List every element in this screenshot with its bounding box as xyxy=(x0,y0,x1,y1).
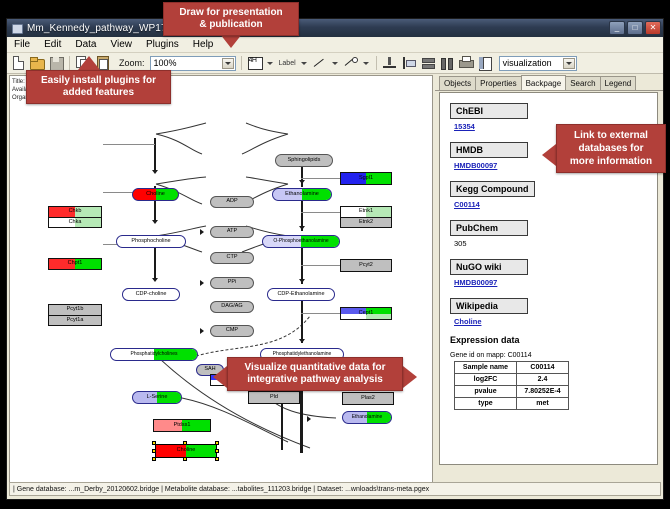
node-chpt1[interactable]: Chpt1 xyxy=(48,258,102,270)
align-left-icon[interactable] xyxy=(401,55,417,71)
arrowhead-ptdcholine xyxy=(152,278,158,282)
tab-objects[interactable]: Objects xyxy=(439,76,476,90)
node-label: CDP-choline xyxy=(136,292,167,298)
expr-val-sample-name: C00114 xyxy=(517,362,569,374)
menu-view[interactable]: View xyxy=(108,39,134,50)
columns-icon[interactable] xyxy=(439,55,455,71)
node-cdp-ethanolamine[interactable]: CDP-Ethanolamine xyxy=(267,288,335,301)
callout-link-line3: more information xyxy=(563,155,659,168)
node-plas2[interactable]: Plas2 xyxy=(342,392,394,405)
node-label: Etnk2 xyxy=(359,220,373,226)
db-header-hmdb: HMDB xyxy=(450,142,528,158)
edge-chk-to-backbone xyxy=(103,144,155,145)
title-bar: Mm_Kennedy_pathway_WP1771_45176.gpml _ □… xyxy=(7,19,663,37)
gene-id-on-mapp: Gene id on mapp: C00114 xyxy=(450,352,657,359)
edge-pld-vertical xyxy=(300,391,302,453)
node-label: Ptdss1 xyxy=(174,423,191,429)
node-label: Choline xyxy=(177,448,196,454)
node-phosphocholine[interactable]: Phosphocholine xyxy=(116,235,186,248)
status-bar-text: | Gene database: ...m_Derby_20120602.bri… xyxy=(13,486,429,493)
expression-data-title: Expression data xyxy=(450,335,657,345)
node-pcyt1a[interactable]: Pcyt1a xyxy=(48,315,102,326)
app-icon xyxy=(11,22,23,34)
callout-draw-line1: Draw for presentation xyxy=(170,7,292,19)
callout-plugins-arrow xyxy=(78,56,100,70)
zoom-value: 100% xyxy=(154,58,177,68)
expr-key-pvalue: pvalue xyxy=(455,386,517,398)
node-pcyt2[interactable]: Pcyt2 xyxy=(340,259,392,272)
node-ppi[interactable]: PPi xyxy=(210,277,254,289)
callout-visualize-arrow-right xyxy=(403,366,417,388)
node-label: DAG/AG xyxy=(221,304,242,310)
node-pld[interactable]: Pld xyxy=(248,391,300,404)
node-phosphatidylcholines[interactable]: Phosphatidylcholines xyxy=(110,348,198,361)
label-dropdown-icon[interactable] xyxy=(300,55,309,71)
stack-icon[interactable] xyxy=(420,55,436,71)
minimize-button[interactable]: _ xyxy=(609,21,625,35)
status-bar: | Gene database: ...m_Derby_20120602.bri… xyxy=(9,482,661,496)
db-header-wikipedia: Wikipedia xyxy=(450,298,528,314)
node-label: Pld xyxy=(270,395,278,401)
node-label: Ethanolamine xyxy=(285,192,319,198)
callout-visualize-arrow-left xyxy=(213,366,227,388)
menu-edit[interactable]: Edit xyxy=(42,39,63,50)
edge-cdpetn-to-ptdetn xyxy=(301,301,303,343)
node-ethanolamine-top[interactable]: Ethanolamine xyxy=(272,188,332,201)
arrowhead-ethanolamine xyxy=(299,180,305,184)
node-label: Phosphocholine xyxy=(131,239,170,245)
node-ptdss1[interactable]: Ptdss1 xyxy=(153,419,211,432)
maximize-button[interactable]: □ xyxy=(627,21,643,35)
menu-help[interactable]: Help xyxy=(191,39,216,50)
toolbar-separator xyxy=(69,56,70,70)
node-chkb[interactable]: Chkb xyxy=(48,206,102,217)
node-label: ADP xyxy=(226,199,237,205)
callout-plugins-line1: Easily install plugins for xyxy=(33,75,164,87)
selection-handle-w[interactable] xyxy=(152,449,156,453)
menu-data[interactable]: Data xyxy=(73,39,98,50)
node-sphingolipids[interactable]: Sphingolipids xyxy=(275,154,333,167)
node-adp[interactable]: ADP xyxy=(210,196,254,208)
node-pcyt1b[interactable]: Pcyt1b xyxy=(48,304,102,315)
db-link-nugo[interactable]: HMDB00097 xyxy=(454,278,657,287)
callout-link-line2: databases for xyxy=(563,142,659,155)
zoom-label: Zoom: xyxy=(119,58,145,68)
selection-handle-n[interactable] xyxy=(183,441,187,445)
db-link-kegg[interactable]: C00114 xyxy=(454,200,657,209)
selection-handle-sw[interactable] xyxy=(152,457,156,461)
db-value-pubchem: 305 xyxy=(454,239,657,248)
node-label: O-Phosphoethanolamine xyxy=(273,239,328,244)
table-row: type met xyxy=(455,398,569,410)
arrowhead-cmp xyxy=(200,328,204,334)
align-bottom-icon[interactable] xyxy=(382,55,398,71)
node-label: CDP-Ethanolamine xyxy=(277,292,324,298)
node-label: Phosphatidylcholines xyxy=(131,352,178,357)
tab-backpage[interactable]: Backpage xyxy=(521,75,567,90)
line-icon[interactable] xyxy=(312,55,328,71)
receptor-dropdown-icon[interactable] xyxy=(362,55,371,71)
node-label: Ethanolamine xyxy=(352,415,383,420)
node-label: Etnk1 xyxy=(359,209,373,215)
expression-table: Sample name C00114 log2FC 2.4 pvalue 7.8… xyxy=(454,361,569,410)
node-atp[interactable]: ATP xyxy=(210,226,254,238)
callout-link-line1: Link to external xyxy=(563,129,659,142)
save-icon[interactable] xyxy=(48,55,64,71)
db-link-wikipedia[interactable]: Choline xyxy=(454,317,657,326)
table-row: Sample name C00114 xyxy=(455,362,569,374)
selection-handle-se[interactable] xyxy=(215,457,219,461)
edge-sphingolipids-to-ethanolamine xyxy=(301,167,303,187)
toolbar-separator-3 xyxy=(376,56,377,70)
label-icon[interactable]: Label xyxy=(278,55,297,71)
callout-visualize-line2: integrative pathway analysis xyxy=(234,374,396,386)
edge-sgpl1 xyxy=(301,178,341,179)
node-dag-ag[interactable]: DAG/AG xyxy=(210,301,254,313)
expr-val-pvalue: 7.80252E-4 xyxy=(517,386,569,398)
callout-draw-line2: & publication xyxy=(170,19,292,31)
toolbar-separator-2 xyxy=(241,56,242,70)
callout-plugins: Easily install plugins for added feature… xyxy=(26,70,171,104)
new-file-icon[interactable] xyxy=(10,55,26,71)
tab-search[interactable]: Search xyxy=(565,76,600,90)
open-folder-icon[interactable] xyxy=(29,55,45,71)
expr-val-type: met xyxy=(517,398,569,410)
chevron-down-icon[interactable] xyxy=(222,58,234,69)
arrowhead-cdpcholine xyxy=(152,220,158,224)
print-icon[interactable] xyxy=(458,55,474,71)
node-label: Pcyt1a xyxy=(67,318,84,324)
selection-handle-nw[interactable] xyxy=(152,441,156,445)
callout-draw: Draw for presentation & publication xyxy=(163,2,299,36)
node-label: Pcyt1b xyxy=(67,307,84,313)
callout-visualize-line1: Visualize quantitative data for xyxy=(234,362,396,374)
edge-etnk xyxy=(301,212,341,213)
node-label: Plas2 xyxy=(361,396,375,402)
callout-link: Link to external databases for more info… xyxy=(556,124,666,173)
node-label: L-Serine xyxy=(147,395,168,401)
node-label: ATP xyxy=(227,229,237,235)
db-header-kegg: Kegg Compound xyxy=(450,181,535,197)
table-row: pvalue 7.80252E-4 xyxy=(455,386,569,398)
visualization-value: visualization xyxy=(503,58,552,68)
screenshot-root: Mm_Kennedy_pathway_WP1771_45176.gpml _ □… xyxy=(0,0,670,509)
callout-draw-arrow xyxy=(220,34,242,48)
node-label: CTP xyxy=(227,255,238,261)
edge-cept1 xyxy=(301,313,341,314)
node-chka[interactable]: Chka xyxy=(48,217,102,228)
expr-val-log2fc: 2.4 xyxy=(517,374,569,386)
node-label: Chpt1 xyxy=(68,261,83,267)
menu-file[interactable]: File xyxy=(12,39,32,50)
callout-visualize: Visualize quantitative data for integrat… xyxy=(227,357,403,391)
arrowhead-ophospho xyxy=(299,226,305,230)
node-ethanolamine-bottom[interactable]: Ethanolamine xyxy=(342,411,392,424)
selection-handle-e[interactable] xyxy=(215,449,219,453)
window-controls: _ □ ✕ xyxy=(609,21,661,35)
node-choline-selected[interactable]: Choline xyxy=(155,444,217,458)
arrowhead-phosphocholine xyxy=(152,170,158,174)
selection-handle-s[interactable] xyxy=(183,457,187,461)
node-cdp-choline[interactable]: CDP-choline xyxy=(122,288,180,301)
menu-plugins[interactable]: Plugins xyxy=(144,39,181,50)
receptor-icon[interactable] xyxy=(343,55,359,71)
edge-pcyt2 xyxy=(301,265,341,266)
node-l-serine-left[interactable]: L-Serine xyxy=(132,391,182,404)
expr-key-sample-name: Sample name xyxy=(455,362,517,374)
arrowhead-cdpetn xyxy=(299,279,305,283)
arrowhead-atp xyxy=(200,229,204,235)
toggle-panel-icon[interactable] xyxy=(477,55,493,71)
menu-bar: File Edit Data View Plugins Help xyxy=(7,37,663,53)
node-label: Chka xyxy=(69,220,82,226)
expr-key-type: type xyxy=(455,398,517,410)
tab-legend[interactable]: Legend xyxy=(600,76,637,90)
node-ctp[interactable]: CTP xyxy=(210,252,254,264)
node-label: PPi xyxy=(228,280,237,286)
pathway-canvas[interactable]: Title: Availa Organ xyxy=(9,75,433,484)
db-header-pubchem: PubChem xyxy=(450,220,528,236)
line-dropdown-icon[interactable] xyxy=(331,55,340,71)
close-button[interactable]: ✕ xyxy=(645,21,661,35)
node-o-phosphoethanolamine[interactable]: O-Phosphoethanolamine xyxy=(262,235,340,248)
selection-handle-ne[interactable] xyxy=(215,441,219,445)
db-header-chebi: ChEBI xyxy=(450,103,528,119)
node-choline-top[interactable]: Choline xyxy=(132,188,179,201)
node-etnk1[interactable]: Etnk1 xyxy=(340,206,392,217)
callout-plugins-line2: added features xyxy=(33,87,164,99)
node-cept1[interactable]: Cept1 xyxy=(340,307,392,320)
node-cmp[interactable]: CMP xyxy=(210,325,254,337)
node-label: Pcyt2 xyxy=(359,263,373,269)
zoom-combo[interactable]: 100% xyxy=(150,56,236,71)
node-sgpl1[interactable]: Sgpl1 xyxy=(340,172,392,185)
node-label: Sgpl1 xyxy=(359,176,373,182)
datanode-dropdown-icon[interactable] xyxy=(266,55,275,71)
arrowhead-ethanolamine-bottom xyxy=(307,416,311,422)
tab-properties[interactable]: Properties xyxy=(475,76,521,90)
node-label: Sphingolipids xyxy=(288,158,321,164)
arrowhead-ptdetn xyxy=(299,339,305,343)
side-panel-tabs: Objects Properties Backpage Search Legen… xyxy=(435,75,663,91)
node-label: Choline xyxy=(146,192,165,198)
table-row: log2FC 2.4 xyxy=(455,374,569,386)
node-etnk2[interactable]: Etnk2 xyxy=(340,217,392,228)
datanode-icon[interactable] xyxy=(247,55,263,71)
chevron-down-icon-2[interactable] xyxy=(563,58,575,69)
node-label: Cept1 xyxy=(359,311,374,317)
node-label: CMP xyxy=(226,328,238,334)
db-header-nugo: NuGO wiki xyxy=(450,259,528,275)
visualization-combo[interactable]: visualization xyxy=(499,56,577,71)
expr-key-log2fc: log2FC xyxy=(455,374,517,386)
arrowhead-ppi xyxy=(200,280,204,286)
node-label: Chkb xyxy=(69,209,82,215)
callout-link-arrow xyxy=(542,144,556,166)
